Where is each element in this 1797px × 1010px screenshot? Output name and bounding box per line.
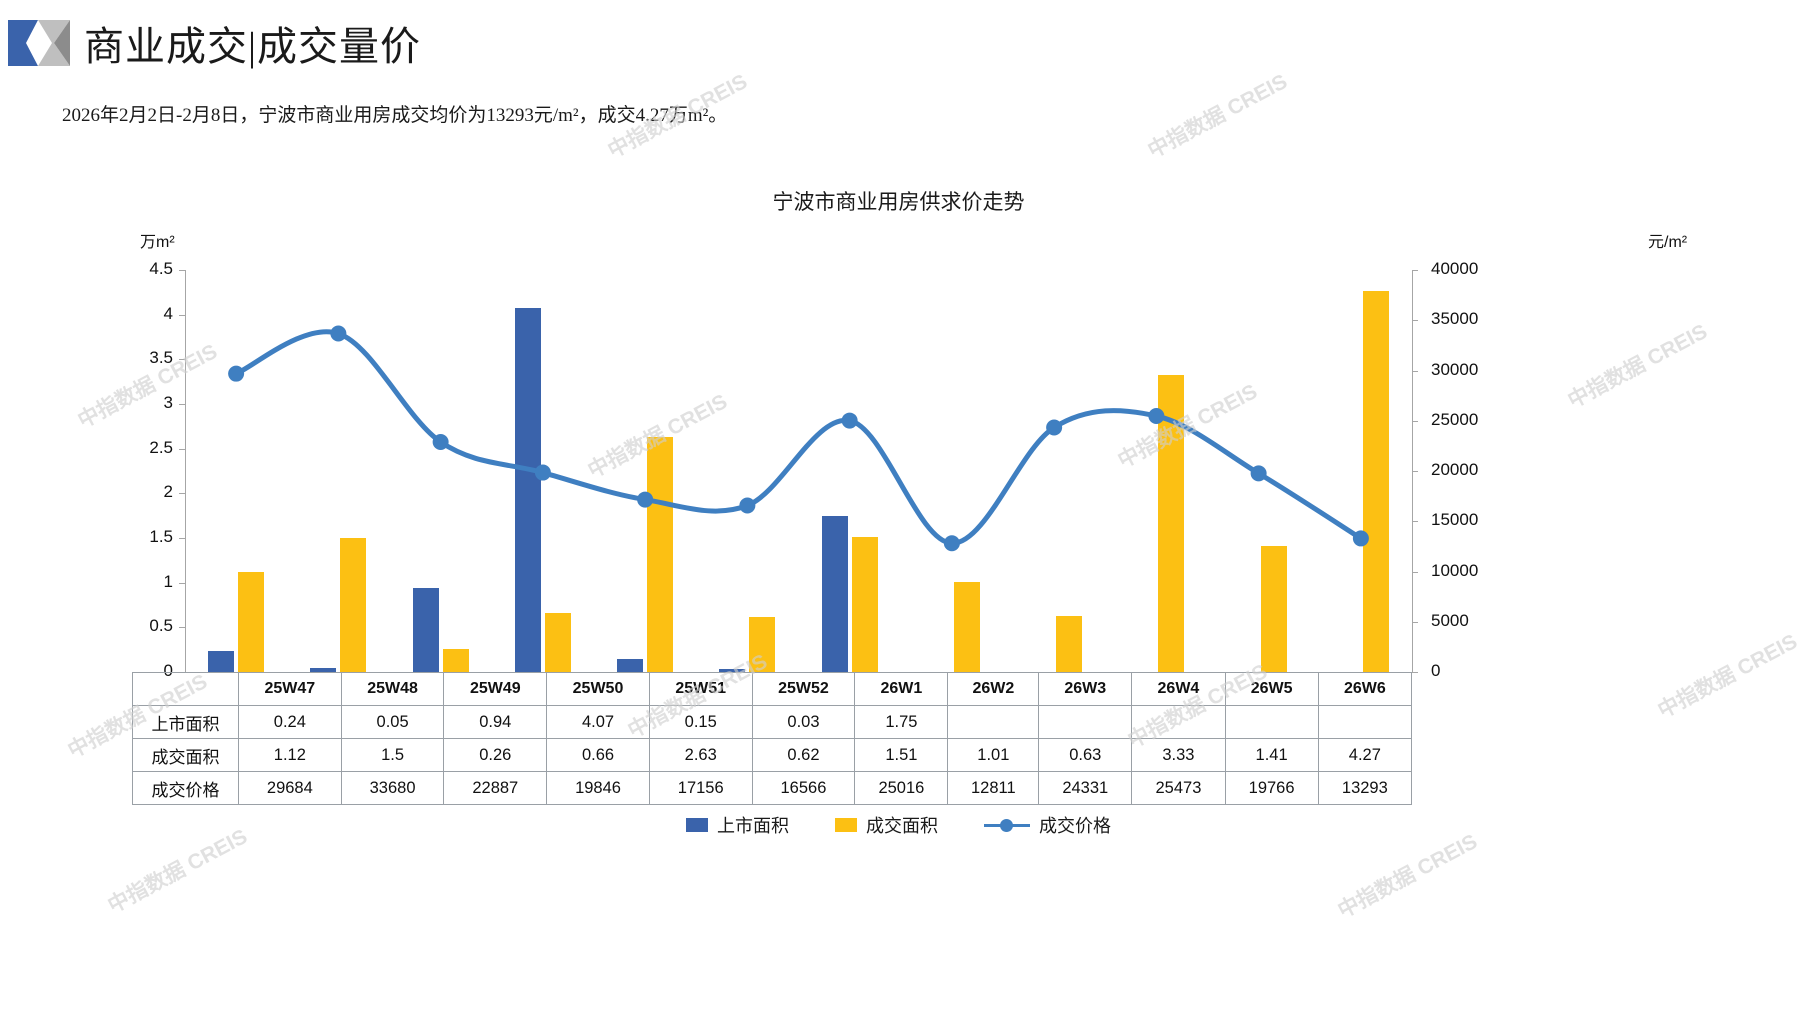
left-tick-label: 2.5 — [149, 438, 173, 458]
price-line-series — [185, 270, 1412, 672]
legend-item[interactable]: 成交面积 — [835, 812, 938, 838]
table-cell: 1.75 — [855, 706, 948, 739]
page-title: 商业成交|成交量价 — [84, 14, 421, 72]
table-cell: 1.01 — [948, 739, 1039, 772]
right-tick-label: 25000 — [1431, 410, 1478, 430]
table-row-label: 成交面积 — [133, 739, 239, 772]
legend-label: 上市面积 — [717, 812, 789, 838]
right-tick — [1412, 572, 1418, 573]
table-cell: 4.07 — [547, 706, 650, 739]
table-cell: 13293 — [1318, 772, 1411, 805]
left-tick-label: 1 — [164, 572, 173, 592]
line-marker-swatch — [984, 818, 1030, 832]
right-tick — [1412, 471, 1418, 472]
table-column-header: 25W48 — [341, 673, 444, 706]
legend-label: 成交价格 — [1039, 812, 1111, 838]
left-tick-label: 3 — [164, 393, 173, 413]
table-cell: 1.51 — [855, 739, 948, 772]
table-header-row: 25W4725W4825W4925W5025W5125W5226W126W226… — [133, 673, 1412, 706]
summary-text: 2026年2月2日-2月8日，宁波市商业用房成交均价为13293元/m²，成交4… — [62, 100, 727, 127]
table-cell: 25016 — [855, 772, 948, 805]
right-tick — [1412, 371, 1418, 372]
table-cell: 0.66 — [547, 739, 650, 772]
price-line-marker — [944, 535, 960, 551]
price-line-marker — [535, 465, 551, 481]
right-tick-label: 30000 — [1431, 360, 1478, 380]
price-line-marker — [739, 498, 755, 514]
table-row: 成交面积1.121.50.260.662.630.621.511.010.633… — [133, 739, 1412, 772]
table-row-label: 成交价格 — [133, 772, 239, 805]
right-tick — [1412, 270, 1418, 271]
table-cell: 0.63 — [1039, 739, 1132, 772]
right-tick-label: 15000 — [1431, 510, 1478, 530]
blue-square-swatch — [686, 818, 708, 832]
table-column-header: 25W47 — [239, 673, 342, 706]
table-cell: 1.12 — [239, 739, 342, 772]
price-line-marker — [330, 326, 346, 342]
table-cell: 3.33 — [1132, 739, 1225, 772]
table-cell — [1039, 706, 1132, 739]
left-tick-label: 4 — [164, 304, 173, 324]
price-line-marker — [433, 434, 449, 450]
page-header: 商业成交|成交量价 2026年2月2日-2月8日，宁波市商业用房成交均价为132… — [0, 0, 1797, 92]
right-tick-label: 5000 — [1431, 611, 1469, 631]
right-tick — [1412, 622, 1418, 623]
chart-legend: 上市面积成交面积成交价格 — [0, 812, 1797, 838]
table-cell: 12811 — [948, 772, 1039, 805]
table-column-header: 26W6 — [1318, 673, 1411, 706]
table-cell — [948, 706, 1039, 739]
price-line-marker — [228, 366, 244, 382]
table-column-header: 25W52 — [752, 673, 855, 706]
table-cell: 0.05 — [341, 706, 444, 739]
table-cell — [1132, 706, 1225, 739]
table-row: 上市面积0.240.050.944.070.150.031.75 — [133, 706, 1412, 739]
right-axis-unit: 元/m² — [1648, 228, 1687, 252]
table-cell: 0.24 — [239, 706, 342, 739]
table-cell: 16566 — [752, 772, 855, 805]
table-column-header: 26W1 — [855, 673, 948, 706]
table-cell: 29684 — [239, 772, 342, 805]
table-cell: 17156 — [649, 772, 752, 805]
left-tick-label: 2 — [164, 482, 173, 502]
table-cell: 4.27 — [1318, 739, 1411, 772]
table-cell: 33680 — [341, 772, 444, 805]
table-column-header: 26W5 — [1225, 673, 1318, 706]
chart-area: 万m² 元/m² 4.543.532.521.510.50 4000035000… — [0, 228, 1797, 678]
watermark: 中指数据 CREIS — [1332, 826, 1482, 925]
price-line-marker — [1148, 408, 1164, 424]
left-tick-label: 1.5 — [149, 527, 173, 547]
right-tick — [1412, 320, 1418, 321]
logo-chevron-mark — [8, 20, 70, 66]
price-line-marker — [1046, 419, 1062, 435]
plot-region: 4.543.532.521.510.50 4000035000300002500… — [185, 270, 1412, 672]
right-tick — [1412, 421, 1418, 422]
right-tick-label: 35000 — [1431, 309, 1478, 329]
right-tick — [1412, 521, 1418, 522]
table-cell — [1225, 706, 1318, 739]
table-cell: 1.41 — [1225, 739, 1318, 772]
right-tick — [1412, 672, 1418, 673]
legend-item[interactable]: 上市面积 — [686, 812, 789, 838]
table-row-label: 上市面积 — [133, 706, 239, 739]
legend-label: 成交面积 — [866, 812, 938, 838]
table-row: 成交价格296843368022887198461715616566250161… — [133, 772, 1412, 805]
table-column-header: 26W2 — [948, 673, 1039, 706]
table-cell: 0.15 — [649, 706, 752, 739]
table-column-header: 26W3 — [1039, 673, 1132, 706]
table-cell: 25473 — [1132, 772, 1225, 805]
data-table-wrap: 25W4725W4825W4925W5025W5125W5226W126W226… — [132, 672, 1412, 805]
table-cell: 2.63 — [649, 739, 752, 772]
right-tick-label: 0 — [1431, 661, 1440, 681]
left-axis-unit: 万m² — [140, 228, 175, 252]
table-cell: 24331 — [1039, 772, 1132, 805]
table-column-header: 25W49 — [444, 673, 547, 706]
price-line-marker — [637, 492, 653, 508]
right-tick-label: 40000 — [1431, 259, 1478, 279]
table-cell: 0.62 — [752, 739, 855, 772]
table-cell: 19766 — [1225, 772, 1318, 805]
yellow-square-swatch — [835, 818, 857, 832]
data-table: 25W4725W4825W4925W5025W5125W5226W126W226… — [132, 672, 1412, 805]
legend-item[interactable]: 成交价格 — [984, 812, 1111, 838]
table-cell: 0.03 — [752, 706, 855, 739]
table-cell: 0.26 — [444, 739, 547, 772]
price-line-marker — [842, 413, 858, 429]
chart-title: 宁波市商业用房供求价走势 — [0, 186, 1797, 216]
table-cell: 0.94 — [444, 706, 547, 739]
table-column-header: 26W4 — [1132, 673, 1225, 706]
table-cell: 19846 — [547, 772, 650, 805]
left-tick-label: 4.5 — [149, 259, 173, 279]
table-column-header: 25W51 — [649, 673, 752, 706]
right-tick-label: 20000 — [1431, 460, 1478, 480]
table-cell — [1318, 706, 1411, 739]
price-line-marker — [1353, 530, 1369, 546]
table-cell: 1.5 — [341, 739, 444, 772]
left-tick-label: 0.5 — [149, 616, 173, 636]
left-tick-label: 3.5 — [149, 348, 173, 368]
price-line-path — [236, 332, 1361, 544]
right-tick-label: 10000 — [1431, 561, 1478, 581]
table-column-header: 25W50 — [547, 673, 650, 706]
table-cell: 22887 — [444, 772, 547, 805]
table-row-label — [133, 673, 239, 706]
price-line-marker — [1251, 465, 1267, 481]
